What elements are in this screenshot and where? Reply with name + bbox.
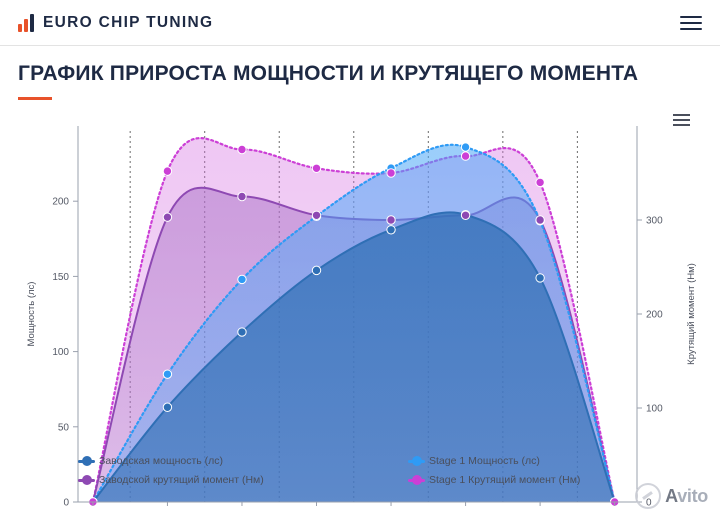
svg-text:100: 100 — [52, 347, 69, 358]
chart-menu-icon[interactable] — [673, 114, 690, 126]
page-title: ГРАФИК ПРИРОСТА МОЩНОСТИ И КРУТЯЩЕГО МОМ… — [18, 62, 702, 86]
legend-marker-stage1-power — [408, 456, 422, 466]
logo-bars-icon — [18, 14, 34, 32]
legend-marker-stock-power — [78, 456, 92, 466]
svg-text:300: 300 — [646, 215, 663, 226]
power-torque-chart: 10002000300040005000600070008000Об/мин05… — [0, 106, 720, 506]
avito-logo-icon — [635, 483, 661, 509]
legend-label-stage1-torque: Stage 1 Крутящий момент (Нм) — [429, 474, 580, 486]
legend-label-stock-power: Заводская мощность (лс) — [99, 455, 223, 467]
avito-watermark-text: Avito — [665, 486, 708, 507]
chart-legend: Заводская мощность (лс) Stage 1 Мощность… — [0, 455, 720, 486]
avito-watermark: Avito — [635, 483, 708, 509]
brand-name: EURO CHIP TUNING — [43, 14, 213, 32]
legend-label-stock-torque: Заводской крутящий момент (Нм) — [99, 474, 264, 486]
legend-marker-stage1-torque — [408, 475, 422, 485]
legend-item-stage1-power[interactable]: Stage 1 Мощность (лс) — [408, 455, 720, 467]
site-header: EURO CHIP TUNING — [0, 0, 720, 46]
svg-text:100: 100 — [646, 403, 663, 414]
legend-item-stock-power[interactable]: Заводская мощность (лс) — [78, 455, 408, 467]
title-underline — [18, 97, 52, 100]
page-root: EURO CHIP TUNING ГРАФИК ПРИРОСТА МОЩНОСТ… — [0, 0, 720, 517]
svg-text:Крутящий момент (Нм): Крутящий момент (Нм) — [686, 263, 697, 365]
svg-text:200: 200 — [646, 309, 663, 320]
legend-item-stock-torque[interactable]: Заводской крутящий момент (Нм) — [78, 474, 408, 486]
title-block: ГРАФИК ПРИРОСТА МОЩНОСТИ И КРУТЯЩЕГО МОМ… — [0, 46, 720, 100]
svg-text:Мощность (лс): Мощность (лс) — [26, 281, 37, 346]
svg-text:200: 200 — [52, 196, 69, 207]
legend-label-stage1-power: Stage 1 Мощность (лс) — [429, 455, 540, 467]
svg-text:150: 150 — [52, 271, 69, 282]
legend-marker-stock-torque — [78, 475, 92, 485]
chart-container: 10002000300040005000600070008000Об/мин05… — [0, 106, 720, 506]
hamburger-icon[interactable] — [680, 16, 702, 30]
svg-text:0: 0 — [63, 497, 69, 506]
svg-text:50: 50 — [58, 422, 70, 433]
